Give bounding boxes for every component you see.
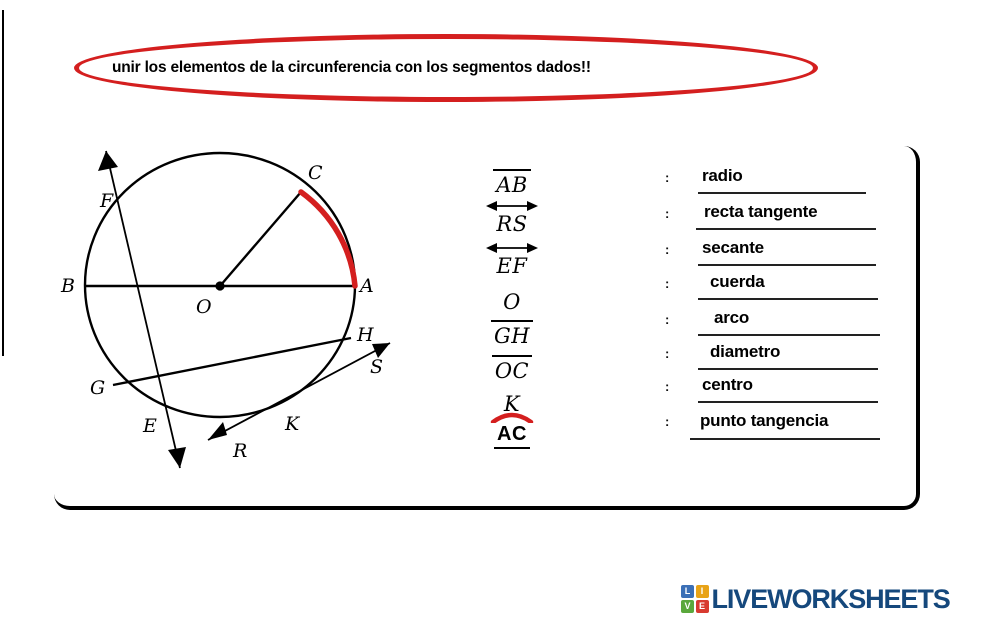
label-K: K bbox=[284, 413, 301, 435]
logo-cell-i: I bbox=[696, 585, 709, 598]
answer-underline bbox=[696, 228, 876, 230]
label-F: F bbox=[99, 190, 114, 212]
liveworksheets-mark-icon: L I V E bbox=[681, 585, 709, 613]
notation-label-rs: RS bbox=[496, 212, 527, 236]
label-A: A bbox=[358, 275, 374, 297]
answer-separator: : bbox=[665, 312, 669, 327]
answer-separator: : bbox=[665, 206, 669, 221]
answer-underline bbox=[690, 438, 880, 440]
center-point-O bbox=[215, 281, 224, 290]
liveworksheets-wordmark: LIVEWORKSHEETS bbox=[712, 584, 950, 615]
logo-cell-l: L bbox=[681, 585, 694, 598]
secant-arrowhead-bottom bbox=[168, 447, 186, 468]
answer-text: diametro bbox=[710, 342, 780, 362]
notation-item-ab[interactable]: AB bbox=[452, 173, 572, 197]
answer-underline bbox=[698, 298, 878, 300]
answer-underline bbox=[698, 334, 880, 336]
logo-cell-e: E bbox=[696, 600, 709, 613]
label-C: C bbox=[308, 162, 323, 184]
notation-label-ef: EF bbox=[497, 254, 528, 278]
radius-OC bbox=[220, 192, 301, 286]
answer-underline bbox=[698, 264, 876, 266]
instruction-banner: unir los elementos de la circunferencia … bbox=[74, 34, 818, 102]
notation-label-ab: AB bbox=[494, 173, 530, 197]
answer-underline bbox=[698, 368, 878, 370]
tangent-arrowhead-R bbox=[208, 422, 227, 440]
answer-separator: : bbox=[665, 242, 669, 257]
answer-separator: : bbox=[665, 414, 669, 429]
answer-underline bbox=[698, 401, 878, 403]
answer-text: centro bbox=[702, 375, 753, 395]
label-H: H bbox=[356, 324, 374, 346]
notation-label-gh: GH bbox=[492, 324, 532, 348]
notation-column: AB RS EF O GH OC K bbox=[452, 165, 572, 445]
answer-row[interactable]: : radio bbox=[660, 168, 900, 202]
notation-item-ac[interactable]: AC bbox=[452, 423, 572, 446]
notation-item-ef[interactable]: EF bbox=[452, 254, 572, 278]
answer-row[interactable]: : diametro bbox=[660, 344, 900, 378]
answer-separator: : bbox=[665, 276, 669, 291]
left-page-rule bbox=[2, 10, 4, 356]
answer-separator: : bbox=[665, 170, 669, 185]
notation-item-gh[interactable]: GH bbox=[452, 324, 572, 348]
answer-row[interactable]: : centro bbox=[660, 377, 900, 411]
answer-separator: : bbox=[665, 346, 669, 361]
answer-text: arco bbox=[714, 308, 749, 328]
label-G: G bbox=[90, 377, 105, 399]
label-R: R bbox=[232, 440, 247, 462]
red-arc-icon bbox=[490, 409, 534, 423]
circle-elements-diagram: F C B A O H G S E K R bbox=[60, 145, 420, 490]
answers-column: : radio : recta tangente : secante : cue… bbox=[660, 168, 900, 448]
notation-item-rs[interactable]: RS bbox=[452, 212, 572, 236]
answer-separator: : bbox=[665, 379, 669, 394]
notation-label-o: O bbox=[501, 290, 523, 314]
answer-row[interactable]: : cuerda bbox=[660, 274, 900, 308]
answer-text: cuerda bbox=[710, 272, 765, 292]
notation-item-o[interactable]: O bbox=[452, 290, 572, 314]
liveworksheets-logo[interactable]: L I V E LIVEWORKSHEETS bbox=[681, 583, 950, 615]
instruction-text: unir los elementos de la circunferencia … bbox=[112, 34, 802, 102]
answer-row[interactable]: : recta tangente bbox=[660, 204, 900, 238]
answer-row[interactable]: : arco bbox=[660, 310, 900, 344]
answer-text: secante bbox=[702, 238, 764, 258]
answer-row[interactable]: : punto tangencia bbox=[660, 412, 900, 446]
label-B: B bbox=[60, 275, 75, 297]
answer-text: recta tangente bbox=[704, 202, 817, 222]
notation-item-oc[interactable]: OC bbox=[452, 359, 572, 383]
answer-row[interactable]: : secante bbox=[660, 240, 900, 274]
logo-cell-v: V bbox=[681, 600, 694, 613]
double-arrow-icon bbox=[484, 242, 540, 253]
label-O: O bbox=[196, 296, 212, 318]
notation-label-ac: AC bbox=[497, 423, 527, 445]
label-S: S bbox=[370, 356, 383, 378]
answer-text: radio bbox=[702, 166, 743, 186]
secant-arrowhead-top bbox=[98, 151, 118, 171]
notation-label-oc: OC bbox=[493, 359, 531, 383]
label-E: E bbox=[142, 415, 157, 437]
answer-text: punto tangencia bbox=[700, 411, 828, 431]
double-arrow-icon bbox=[484, 200, 540, 211]
answer-underline bbox=[698, 192, 866, 194]
